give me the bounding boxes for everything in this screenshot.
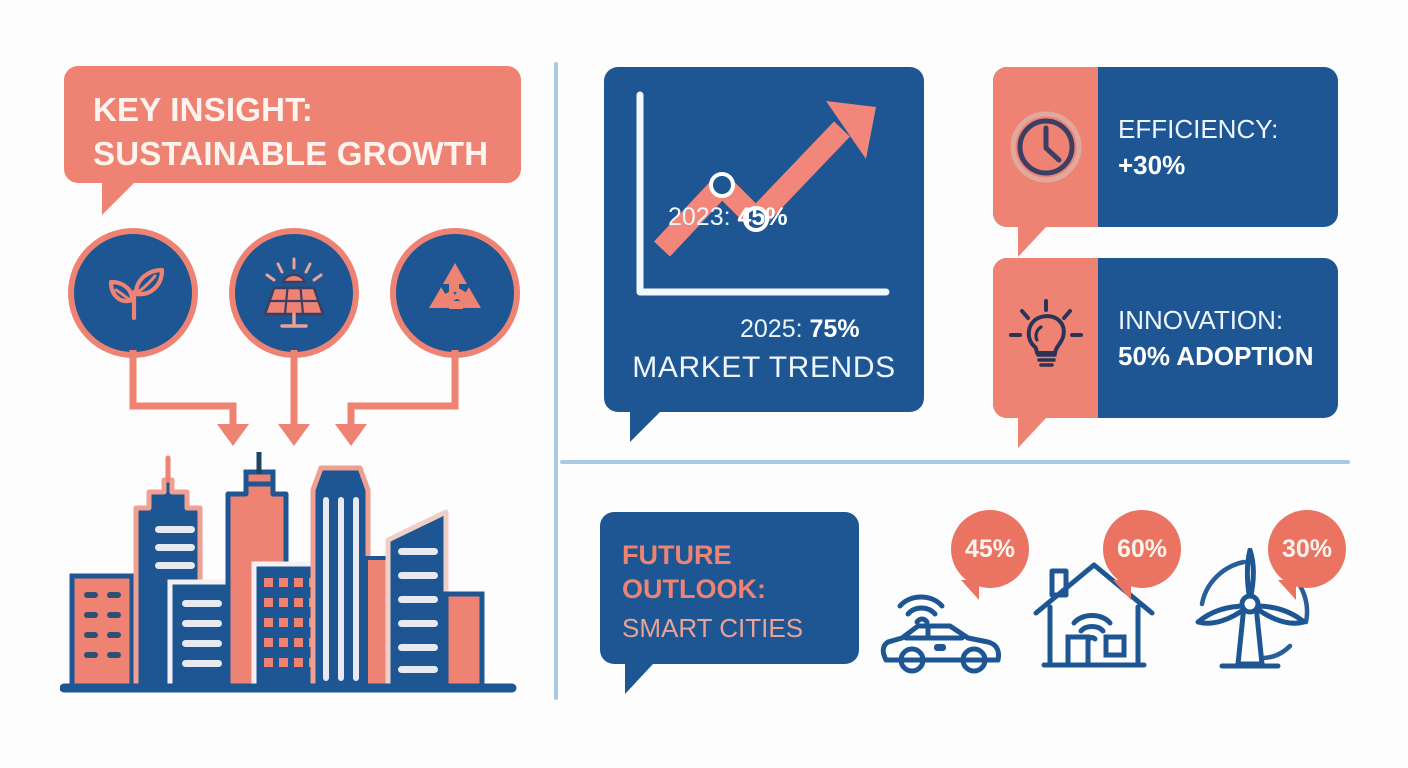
- innovation-icon-panel: [993, 258, 1098, 418]
- market-label-2025: 2025: 75%: [740, 315, 860, 344]
- market-label-2023: 2023: 45%: [668, 203, 788, 232]
- connector-arrows: [60, 350, 480, 465]
- market-trends-title: MARKET TRENDS: [604, 351, 924, 385]
- market-trends-bubble: 2023: 45% 2025: 75% MARKET TRENDS: [604, 67, 924, 412]
- divider-horizontal: [560, 460, 1350, 464]
- innovation-card-tail: [1018, 418, 1046, 448]
- pillar-circle-solar-energy[interactable]: [229, 228, 359, 358]
- badge-connected-car-tail: [961, 580, 979, 600]
- key-insight-title: KEY INSIGHT: SUSTAINABLE GROWTH: [93, 88, 488, 176]
- badge-connected-car: 45%: [951, 510, 1029, 588]
- key-insight-bubble: KEY INSIGHT: SUSTAINABLE GROWTH: [64, 66, 521, 183]
- pillar-circle-recycling[interactable]: [390, 228, 520, 358]
- future-outlook-bubble-tail: [625, 664, 653, 694]
- badge-wind-energy-tail: [1278, 580, 1296, 600]
- key-insight-bubble-tail: [102, 183, 134, 215]
- efficiency-icon-panel: [993, 67, 1098, 227]
- pillar-circle-plant-growth[interactable]: [68, 228, 198, 358]
- divider-vertical: [554, 62, 558, 700]
- future-outlook-subtitle: SMART CITIES: [622, 612, 803, 644]
- market-trends-bubble-tail: [630, 412, 660, 442]
- innovation-text: INNOVATION:50% ADOPTION: [1118, 302, 1314, 374]
- future-outlook-title: FUTURE OUTLOOK:: [622, 538, 766, 606]
- stat-card-efficiency: EFFICIENCY:+30%: [993, 67, 1338, 227]
- smart-city-skyline: [60, 452, 522, 705]
- efficiency-card-tail: [1018, 227, 1046, 257]
- stat-card-innovation: INNOVATION:50% ADOPTION: [993, 258, 1338, 418]
- badge-smart-home: 60%: [1103, 510, 1181, 588]
- future-outlook-bubble: FUTURE OUTLOOK: SMART CITIES: [600, 512, 859, 664]
- badge-wind-energy: 30%: [1268, 510, 1346, 588]
- efficiency-text: EFFICIENCY:+30%: [1118, 111, 1278, 183]
- badge-smart-home-tail: [1113, 580, 1131, 600]
- infographic-canvas: KEY INSIGHT: SUSTAINABLE GROWTH: [0, 0, 1408, 768]
